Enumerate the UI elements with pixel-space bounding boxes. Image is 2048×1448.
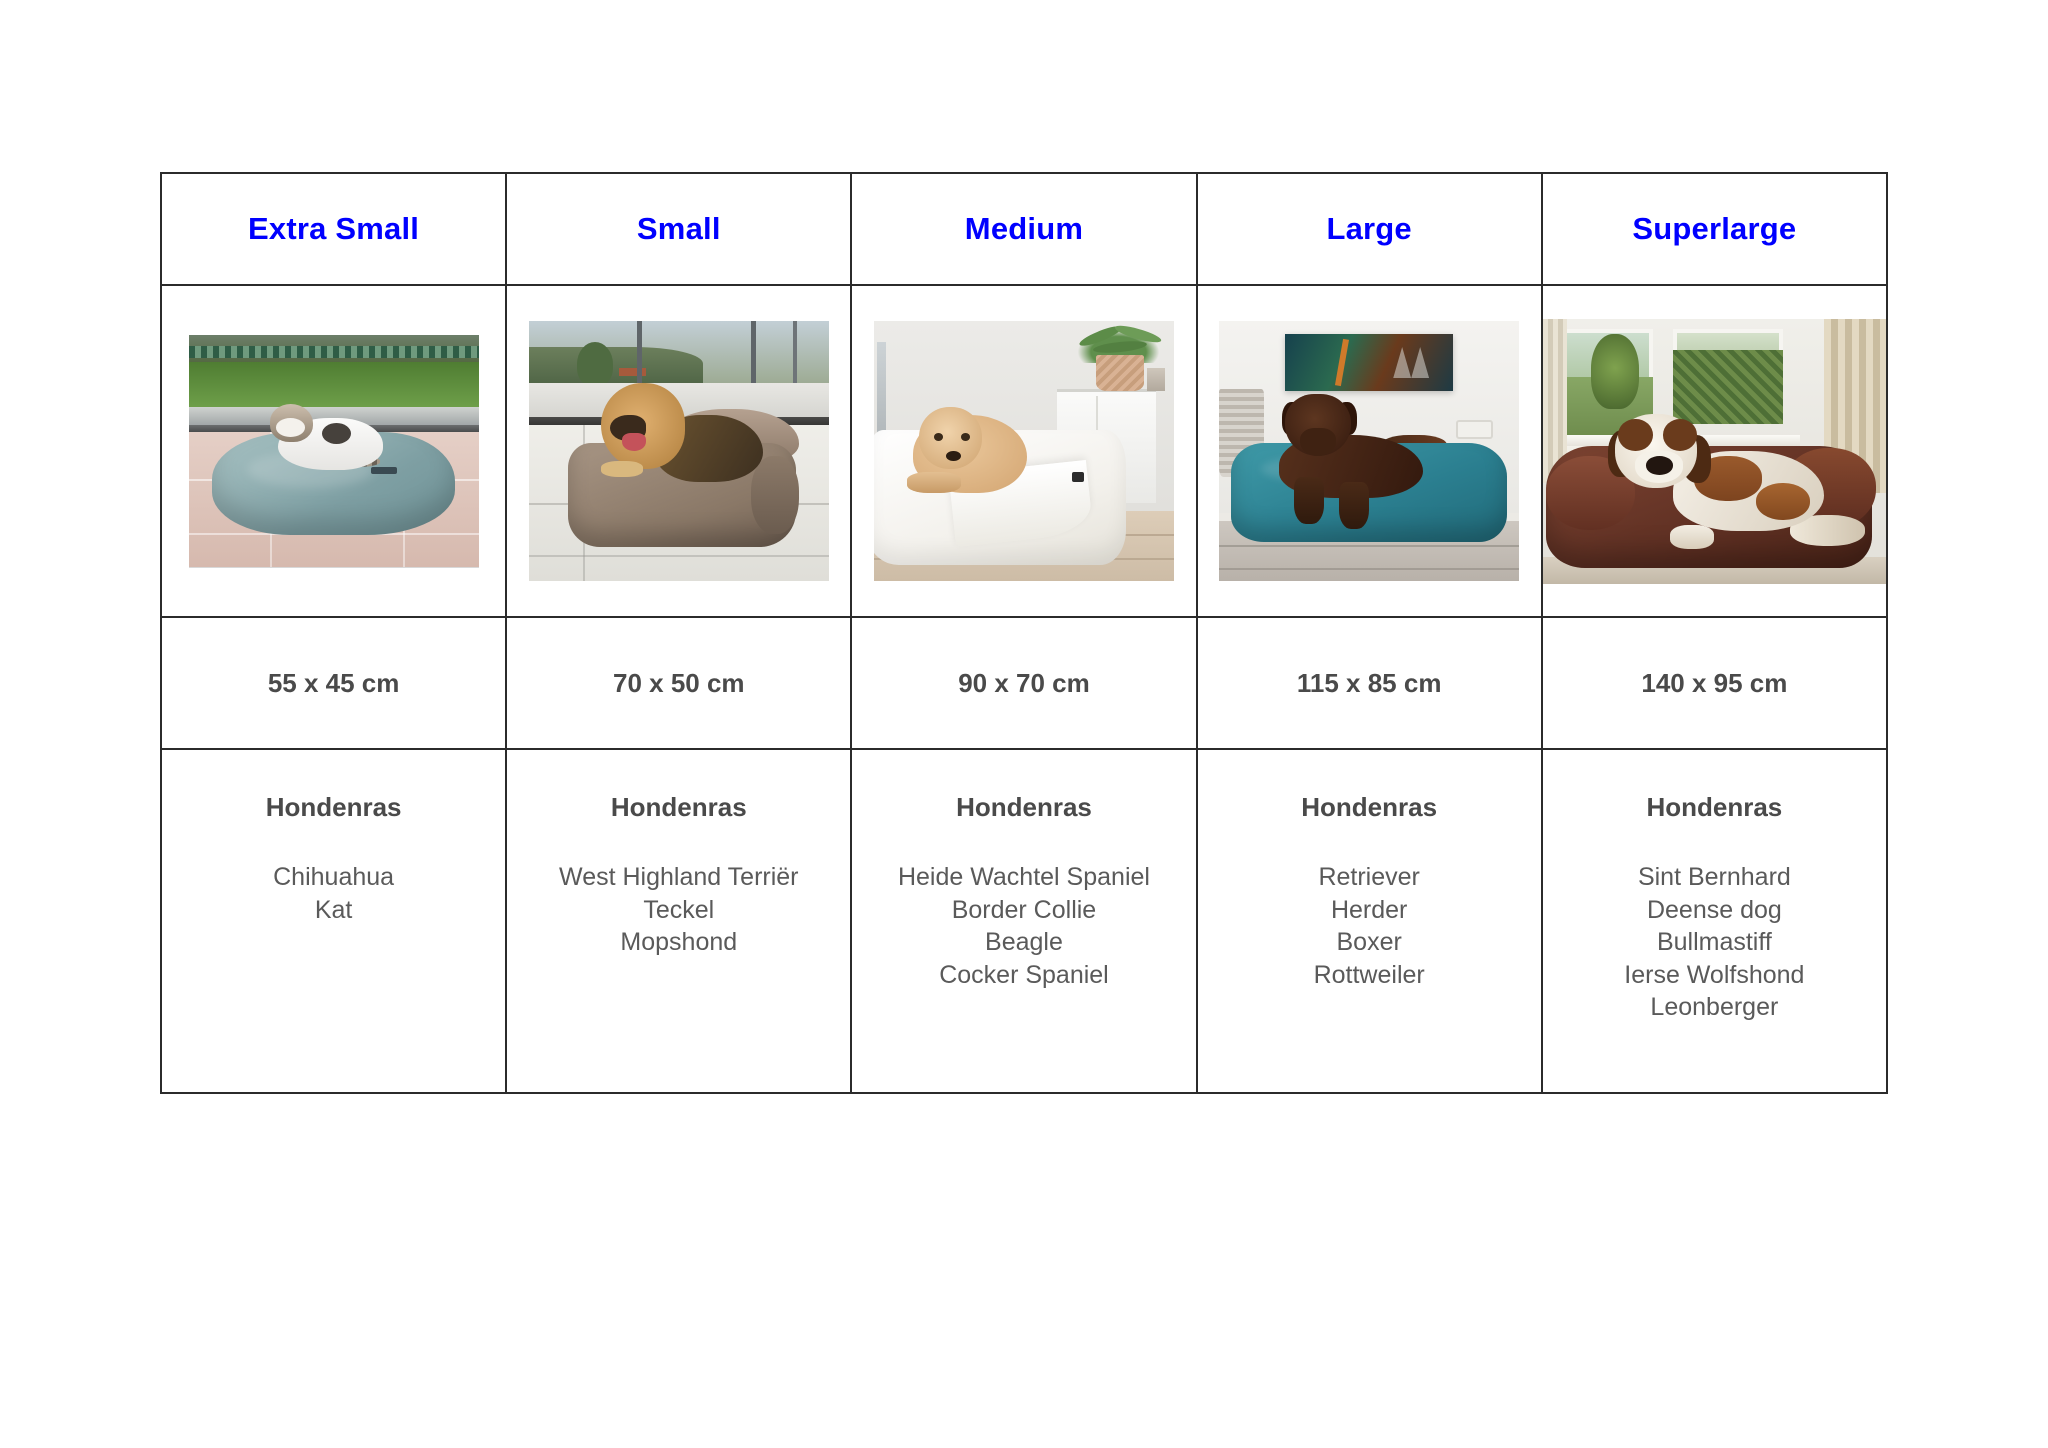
dimension-label: 115 x 85 cm (1198, 668, 1541, 699)
photo-cockapoo-puppy-on-white-bed (874, 321, 1174, 581)
photo-wrapper (507, 286, 850, 616)
grass-layer (189, 362, 479, 409)
tree-shape (1591, 334, 1639, 408)
breed-list: West Highland TerriërTeckelMopshond (507, 861, 850, 959)
hedge-view (1673, 350, 1783, 424)
breed-cell-large: Hondenras RetrieverHerderBoxerRottweiler (1197, 749, 1542, 1093)
breed-item: Rottweiler (1198, 959, 1541, 992)
breed-list: Heide Wachtel SpanielBorder CollieBeagle… (852, 861, 1195, 991)
breed-item: Teckel (507, 894, 850, 927)
table-breed-row: Hondenras ChihuahuaKat Hondenras West Hi… (161, 749, 1887, 1093)
breed-section-title: Hondenras (1543, 792, 1886, 823)
dog-coat-patch (1756, 483, 1811, 520)
breed-item: Herder (1198, 894, 1541, 927)
photo-cell-small (506, 285, 851, 617)
tree-shape (577, 342, 613, 386)
photo-chocolate-labrador-on-teal-bed (1219, 321, 1519, 581)
breed-list: Sint BernhardDeense dogBullmastiffIerse … (1543, 861, 1886, 1024)
breed-item: Leonberger (1543, 991, 1886, 1024)
floorboard-line (1219, 568, 1519, 570)
dimension-label: 70 x 50 cm (507, 668, 850, 699)
dimension-cell-large: 115 x 85 cm (1197, 617, 1542, 749)
size-header-label: Small (507, 212, 850, 246)
breed-cell-medium: Hondenras Heide Wachtel SpanielBorder Co… (851, 749, 1196, 1093)
page-canvas: Extra Small Small Medium Large Superlarg… (0, 0, 2048, 1448)
size-header-label: Medium (852, 212, 1195, 246)
photo-wrapper (162, 286, 505, 616)
size-header-label: Extra Small (162, 212, 505, 246)
dog-face-mask (1663, 419, 1697, 451)
wall-artwork (1285, 334, 1453, 391)
puppy-paws (907, 472, 961, 493)
photo-wrapper (852, 286, 1195, 616)
breed-cell-small: Hondenras West Highland TerriërTeckelMop… (506, 749, 851, 1093)
dog-bed-size-table: Extra Small Small Medium Large Superlarg… (160, 172, 1888, 1094)
dimension-cell-superlarge: 140 x 95 cm (1542, 617, 1887, 749)
brand-label-tag (1072, 472, 1084, 482)
header-cell-small: Small (506, 173, 851, 285)
breed-item: Retriever (1198, 861, 1541, 894)
breed-item: Sint Bernhard (1543, 861, 1886, 894)
dog-nose (1646, 456, 1673, 475)
dimension-cell-small: 70 x 50 cm (506, 617, 851, 749)
dog-paw (1670, 525, 1715, 549)
dog-face-mask (1618, 419, 1652, 451)
photo-terrier-on-taupe-bolster-bed (529, 321, 829, 581)
header-cell-medium: Medium (851, 173, 1196, 285)
photo-wrapper (1543, 286, 1886, 616)
breed-item: Deense dog (1543, 894, 1886, 927)
fence-layer (189, 346, 479, 358)
header-cell-large: Large (1197, 173, 1542, 285)
breed-section-title: Hondenras (507, 792, 850, 823)
breed-item: Kat (162, 894, 505, 927)
photo-cell-large (1197, 285, 1542, 617)
bed-bolster-side (751, 456, 799, 534)
dog-front-leg (1294, 477, 1324, 524)
cat-spot (322, 423, 351, 444)
breed-section-title: Hondenras (852, 792, 1195, 823)
puppy-eye (961, 433, 970, 441)
breed-item: Beagle (852, 926, 1195, 959)
breed-list: RetrieverHerderBoxerRottweiler (1198, 861, 1541, 991)
candle-holder (1147, 368, 1165, 391)
photo-cell-superlarge (1542, 285, 1887, 617)
dimension-cell-medium: 90 x 70 cm (851, 617, 1196, 749)
table-dimension-row: 55 x 45 cm 70 x 50 cm 90 x 70 cm 115 x 8… (161, 617, 1887, 749)
photo-cat-on-light-blue-dog-bed (189, 335, 479, 568)
breed-item: Mopshond (507, 926, 850, 959)
woven-plant-pot (1096, 355, 1144, 391)
breed-item: Ierse Wolfshond (1543, 959, 1886, 992)
brand-label-tag (371, 467, 397, 474)
dimension-cell-extra-small: 55 x 45 cm (161, 617, 506, 749)
breed-section-title: Hondenras (162, 792, 505, 823)
floorboard-line (1219, 545, 1519, 547)
window-mullion (793, 321, 797, 383)
cat-face (276, 418, 305, 437)
tile-grout-line (529, 555, 829, 557)
breed-list: ChihuahuaKat (162, 861, 505, 926)
breed-section-title: Hondenras (1198, 792, 1541, 823)
dimension-label: 55 x 45 cm (162, 668, 505, 699)
header-cell-superlarge: Superlarge (1542, 173, 1887, 285)
hillside-layer (529, 347, 703, 389)
dog-tongue (622, 433, 646, 451)
dimension-label: 90 x 70 cm (852, 668, 1195, 699)
photo-wrapper (1198, 286, 1541, 616)
table-photo-row (161, 285, 1887, 617)
photo-cell-medium (851, 285, 1196, 617)
breed-item: Heide Wachtel Spaniel (852, 861, 1195, 894)
breed-item: Bullmastiff (1543, 926, 1886, 959)
photo-cell-extra-small (161, 285, 506, 617)
breed-cell-superlarge: Hondenras Sint BernhardDeense dogBullmas… (1542, 749, 1887, 1093)
header-cell-extra-small: Extra Small (161, 173, 506, 285)
dog-front-leg (1339, 482, 1369, 529)
breed-item: Chihuahua (162, 861, 505, 894)
photo-saint-bernard-on-brown-leather-bed (1543, 319, 1886, 584)
dog-paw (601, 461, 643, 477)
breed-item: Border Collie (852, 894, 1195, 927)
breed-item: Cocker Spaniel (852, 959, 1195, 992)
wall-socket (1456, 420, 1493, 440)
breed-item: Boxer (1198, 926, 1541, 959)
dimension-label: 140 x 95 cm (1543, 668, 1886, 699)
breed-cell-extra-small: Hondenras ChihuahuaKat (161, 749, 506, 1093)
puppy-eye (934, 433, 943, 441)
size-header-label: Large (1198, 212, 1541, 246)
breed-item: West Highland Terriër (507, 861, 850, 894)
size-header-label: Superlarge (1543, 212, 1886, 246)
table-header-row: Extra Small Small Medium Large Superlarg… (161, 173, 1887, 285)
